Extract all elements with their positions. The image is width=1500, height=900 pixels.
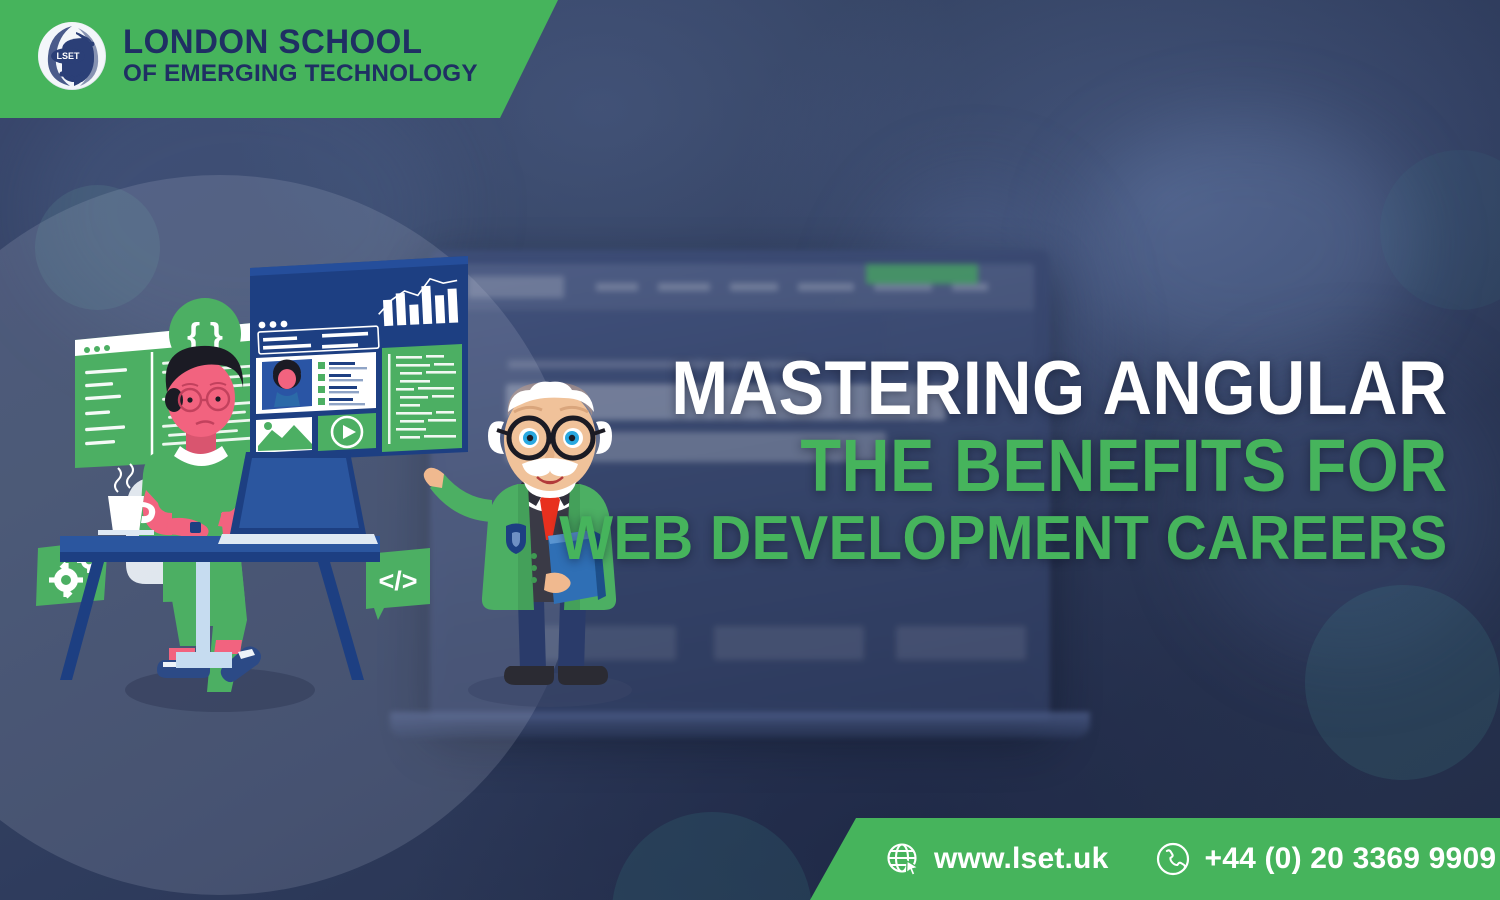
website-feature [714, 626, 864, 660]
dashboard-avatar [273, 359, 301, 407]
headline-block: MASTERING ANGULAR THE BENEFITS FOR WEB D… [482, 352, 1448, 570]
headline-line3: WEB DEVELOPMENT CAREERS [560, 509, 1448, 570]
lset-head-circle-logo: LSET [38, 22, 106, 90]
brand-wordmark: LONDON SCHOOL OF EMERGING TECHNOLOGY [123, 25, 481, 87]
brand-header-bar: LSET LONDON SCHOOL OF EMERGING TECHNOLOG… [0, 0, 558, 118]
headline-line1: MASTERING ANGULAR [579, 352, 1448, 426]
brand-line1: LONDON SCHOOL [123, 25, 471, 59]
website-feature [896, 626, 1026, 660]
marketing-banner: { } [0, 0, 1500, 900]
decorative-circle [1305, 585, 1500, 780]
website-nav-item [952, 283, 988, 291]
contact-footer-bar: www.lset.uk +44 (0) 20 3369 9909 [810, 818, 1500, 900]
brand-logo-lockup[interactable]: LSET LONDON SCHOOL OF EMERGING TECHNOLOG… [38, 22, 481, 90]
website-label: www.lset.uk [934, 842, 1108, 876]
website-nav-item [798, 283, 854, 291]
phone-circle-icon [1155, 841, 1191, 877]
background-blob [1080, 120, 1410, 370]
brand-line2: OF EMERGING TECHNOLOGY [123, 62, 478, 87]
globe-cursor-icon [885, 841, 921, 877]
svg-text:LSET: LSET [56, 51, 80, 61]
website-nav-item [874, 283, 932, 291]
website-cta-button [866, 264, 978, 284]
website-nav-item [730, 283, 778, 291]
headline-line2: THE BENEFITS FOR [579, 430, 1448, 503]
phone-contact[interactable]: +44 (0) 20 3369 9909 [1155, 841, 1496, 877]
website-contact[interactable]: www.lset.uk [885, 841, 1108, 877]
phone-label: +44 (0) 20 3369 9909 [1204, 842, 1496, 876]
